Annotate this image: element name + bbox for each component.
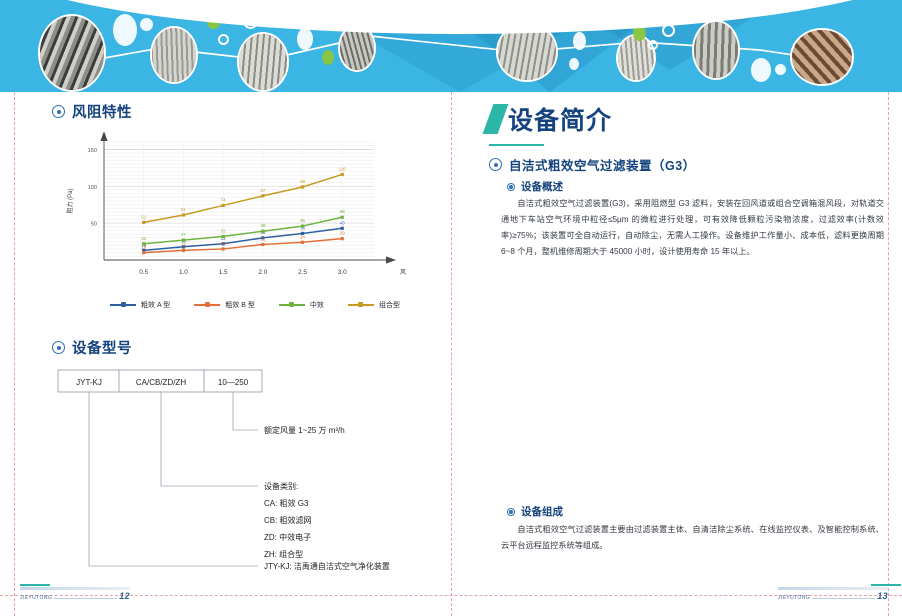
device-subtitle: 自洁式粗效空气过滤装置（G3） [509,155,696,174]
wind-resistance-chart: 50100150-----------------------------0.5… [56,132,406,292]
svg-text:116: 116 [339,166,347,171]
leader-line-category [161,392,258,486]
svg-text:61: 61 [181,207,186,212]
footer-text-right: JIEYUTONG 13 [778,591,888,601]
bullet-icon [507,508,515,516]
target-ring-icon [52,105,65,118]
photo-tunnel-1 [40,16,104,90]
overview-paragraph: 自洁式粗效空气过滤装置(G3)，采用阻燃型 G3 滤料，安装在回风道或组合空调箱… [501,196,884,260]
svg-text:-: - [98,215,99,219]
model-section-title: 设备型号 [72,337,132,358]
svg-text:-: - [98,192,99,196]
photo-corridor-4 [340,26,374,70]
right-page: 设备简介 自洁式粗效空气过滤装置（G3） 设备概述 自洁式粗效空气过滤装置(G3… [451,92,902,616]
svg-text:-: - [98,203,99,207]
svg-text:150: 150 [88,148,97,154]
model-code-diagram: JYT-KJ CA/CB/ZD/ZH 10—250 额定风量 1~25 万 m³… [40,364,451,594]
note-category-title: 设备类别: [264,481,298,491]
svg-text:99: 99 [300,179,305,184]
svg-text:1.5: 1.5 [219,269,228,276]
svg-text:-: - [98,251,99,255]
svg-text:-: - [98,226,99,230]
svg-text:-: - [98,237,99,241]
svg-text:3.0: 3.0 [338,269,347,276]
svg-text:87: 87 [260,188,265,193]
bubble-green-icon [322,50,334,65]
svg-text:-: - [98,141,99,145]
leader-line-airflow [233,392,258,430]
legend-swatch [194,304,220,306]
svg-text:100: 100 [88,185,97,191]
legend-label: 中效 [310,300,324,310]
svg-text:46: 46 [300,218,305,223]
svg-text:-: - [98,170,99,174]
photo-machine-7 [694,22,738,78]
page-number: 12 [119,591,130,601]
bubble-icon [573,32,586,50]
svg-text:-: - [98,248,99,252]
footer-accent-left [20,584,50,586]
right-title-block: 设备简介 [488,104,612,134]
target-ring-icon [489,158,502,171]
svg-text:-: - [98,152,99,156]
note-category-item-1: CB: 粗效滤网 [264,515,312,525]
page-number: 13 [877,591,888,601]
composition-paragraph: 自洁式粗效空气过滤装置主要由过滤装置主体、自清洁除尘系统、在线监控仪表、及智能控… [501,522,884,554]
legend-label: 组合型 [379,300,400,310]
target-ring-icon [52,341,65,354]
chart-legend: 粗效 A 型 粗效 B 型 中效 组合型 [110,300,400,310]
model-section-heading: 设备型号 [52,337,132,358]
brochure-page: 风阻特性 50100150---------------------------… [0,0,902,616]
banner-photo-2 [150,26,198,84]
svg-text:-: - [98,207,99,211]
svg-text:-: - [98,174,99,178]
svg-text:58: 58 [340,209,345,214]
svg-text:-: - [98,144,99,148]
footer-brand: JIEYUTONG [20,595,52,601]
svg-text:74: 74 [221,197,226,202]
svg-text:0.5: 0.5 [139,269,148,276]
svg-text:39: 39 [260,223,265,228]
photo-filter-8 [792,30,852,84]
bubble-ring-icon [218,34,229,45]
footer-left: JIEYUTONG 12 [20,587,130,601]
svg-text:51: 51 [141,214,146,219]
bullet-icon [507,183,515,191]
svg-text:阻力 (Pa): 阻力 (Pa) [66,188,74,213]
svg-text:-: - [98,196,99,200]
legend-item-0: 粗效 A 型 [110,300,170,310]
footer-dash [54,598,117,599]
footer-dash [812,598,875,599]
banner-photo-7 [692,20,740,80]
footer-rule [778,587,888,590]
footer-rule [20,587,130,590]
svg-text:22: 22 [141,236,146,241]
device-subtitle-heading: 自洁式粗效空气过滤装置（G3） [489,155,696,174]
svg-text:27: 27 [181,232,186,237]
svg-text:15: 15 [221,241,226,246]
bubble-icon [297,28,313,50]
svg-text:-: - [98,218,99,222]
model-box-label-1: CA/CB/ZD/ZH [136,378,186,387]
svg-text:-: - [98,159,99,163]
note-category-item-3: ZH: 组合型 [264,549,303,559]
model-box-label-0: JYT-KJ [76,378,102,387]
bubble-icon [775,64,786,75]
left-page: 风阻特性 50100150---------------------------… [0,92,451,616]
note-category-item-0: CA: 粗效 G3 [264,498,309,508]
legend-item-3: 组合型 [348,300,400,310]
svg-text:-: - [98,240,99,244]
svg-text:-: - [98,229,99,233]
chart-canvas: 50100150-----------------------------0.5… [56,132,406,292]
svg-text:13: 13 [181,242,186,247]
legend-item-2: 中效 [279,300,324,310]
composition-label: 设备组成 [521,504,563,519]
bubble-icon [140,18,153,31]
legend-item-1: 粗效 B 型 [194,300,255,310]
banner-photo-1 [38,14,106,92]
svg-text:-: - [98,181,99,185]
legend-swatch [110,304,136,306]
svg-text:2.0: 2.0 [258,269,267,276]
bubble-icon [751,58,771,82]
svg-text:1.0: 1.0 [179,269,188,276]
note-airflow: 额定风量 1~25 万 m³/h [264,425,345,435]
footer-text-left: JIEYUTONG 12 [20,591,130,601]
overview-label: 设备概述 [521,179,563,194]
svg-text:2.5: 2.5 [298,269,307,276]
footer-right: JIEYUTONG 13 [778,587,888,601]
composition-heading: 设备组成 [507,504,563,519]
photo-platform-3 [239,34,287,90]
legend-swatch [279,304,305,306]
svg-text:-: - [98,167,99,171]
note-category-item-2: ZD: 中效电子 [264,532,311,542]
svg-text:-: - [98,244,99,248]
footer-accent-right [871,584,901,586]
model-box-label-2: 10—250 [218,378,249,387]
page-title: 设备简介 [508,109,612,134]
page-sheet: 风阻特性 50100150---------------------------… [0,92,902,616]
footer-brand: JIEYUTONG [778,595,810,601]
banner-photo-3 [237,32,289,92]
svg-text:24: 24 [300,234,305,239]
legend-label: 粗效 A 型 [141,300,170,310]
svg-text:-: - [98,200,99,204]
svg-text:-: - [98,233,99,237]
legend-swatch [348,304,374,306]
chart-section-heading: 风阻特性 [52,101,132,122]
chart-section-title: 风阻特性 [72,101,132,122]
svg-text:-: - [98,178,99,182]
bubble-icon [569,58,579,70]
svg-text:-: - [98,156,99,160]
svg-text:风速 (m/s): 风速 (m/s) [400,269,406,276]
svg-text:-: - [98,163,99,167]
slash-accent-icon [483,104,509,134]
top-banner [0,0,902,92]
svg-text:-: - [98,255,99,259]
photo-station-2 [152,28,196,82]
svg-text:-: - [98,211,99,215]
svg-text:29: 29 [340,231,345,236]
title-underline [489,144,544,146]
svg-text:-: - [98,189,99,193]
banner-photo-8 [790,28,854,86]
svg-text:32: 32 [221,228,226,233]
svg-text:43: 43 [340,220,345,225]
bubble-icon [113,14,137,46]
bubble-ring-icon [648,40,658,50]
svg-text:50: 50 [91,222,97,228]
legend-label: 粗效 B 型 [225,300,255,310]
note-model: JTY-KJ: 洁禹通自洁式空气净化装置 [264,561,390,571]
svg-text:21: 21 [260,237,265,242]
overview-heading: 设备概述 [507,179,563,194]
